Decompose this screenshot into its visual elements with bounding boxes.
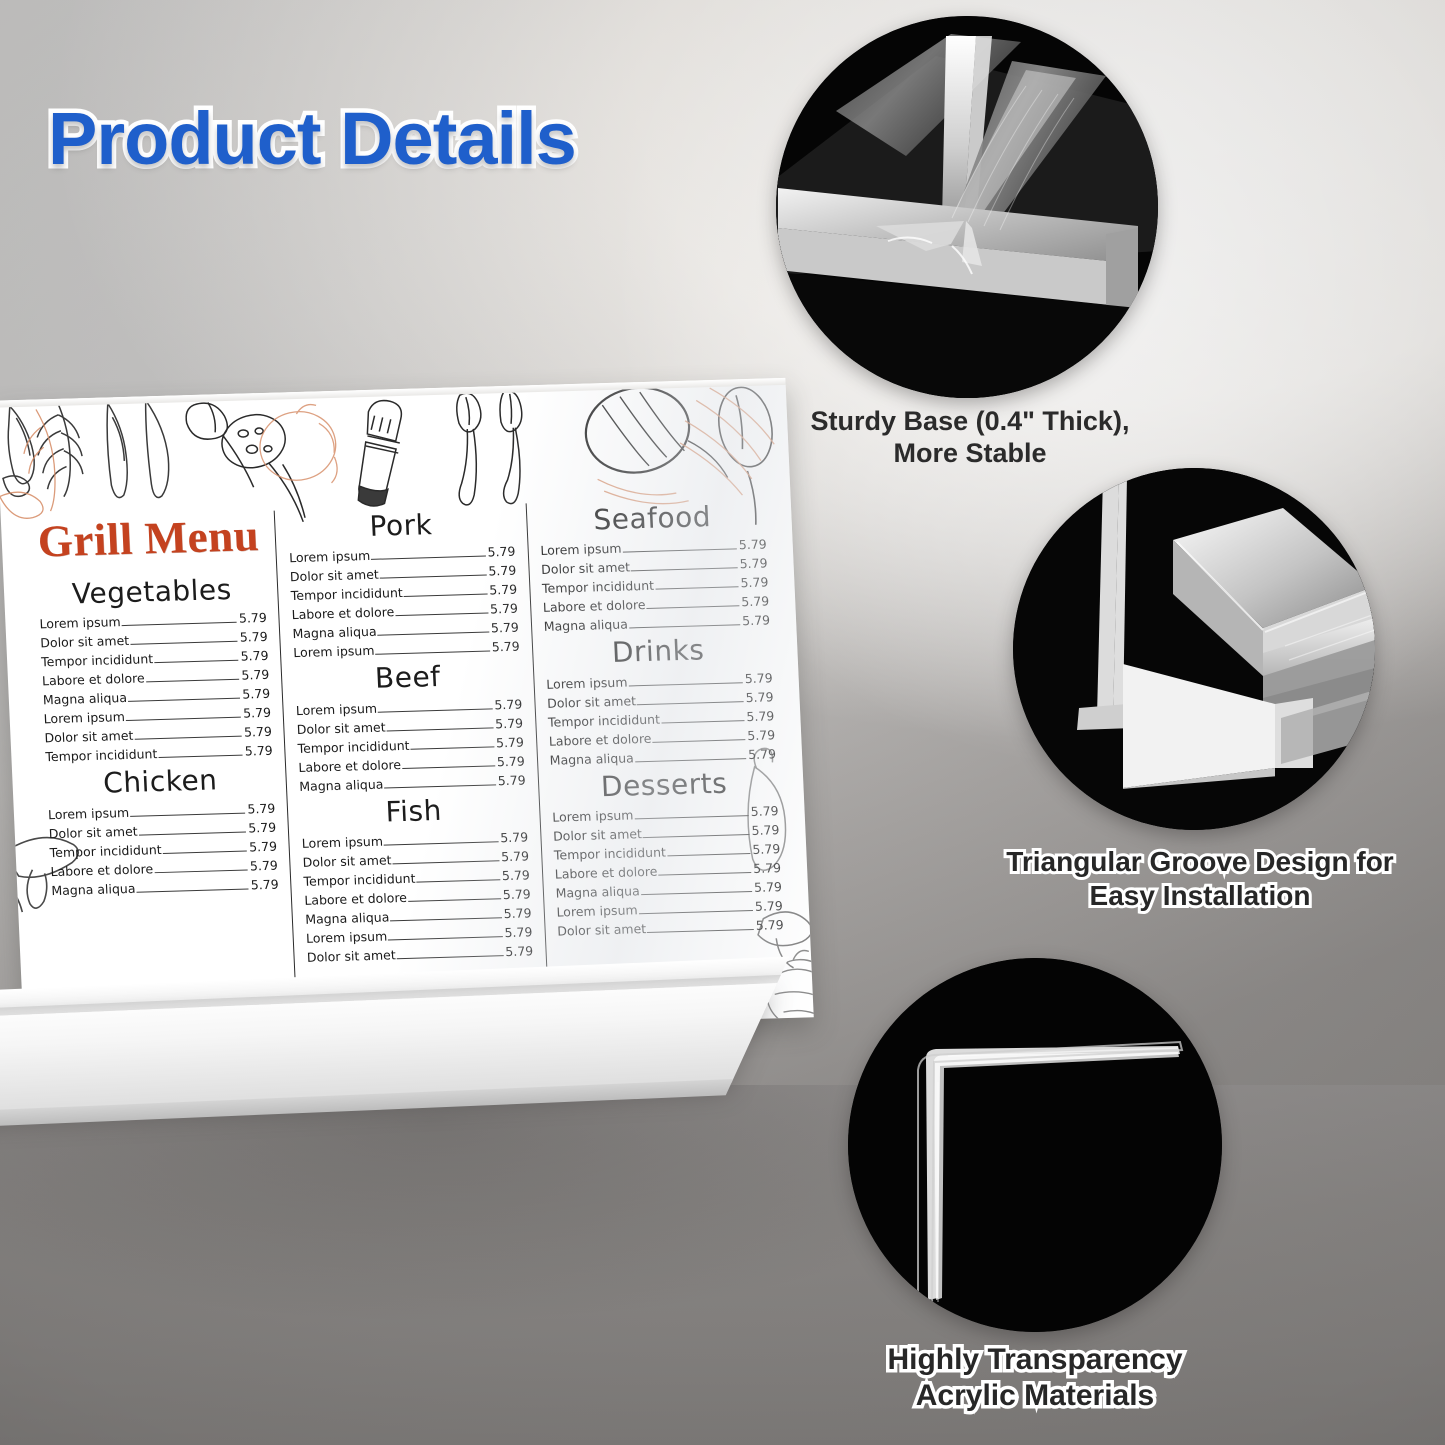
leader-dots <box>397 948 504 959</box>
leader-dots <box>637 694 744 705</box>
item-price: 5.79 <box>747 725 776 745</box>
leader-dots <box>643 827 750 838</box>
item-price: 5.79 <box>488 561 517 581</box>
item-price: 5.79 <box>243 703 272 723</box>
menu-section-drinks: Drinks Lorem ipsum5.79 Dolor sit amet5.7… <box>544 634 776 770</box>
caption-line-1: Highly Transparency <box>810 1342 1260 1378</box>
item-price: 5.79 <box>746 706 775 726</box>
item-name: Dolor sit amet <box>40 631 130 653</box>
item-price: 5.79 <box>247 798 276 818</box>
section-items: Lorem ipsum5.79 Dolor sit amet5.79 Tempo… <box>301 828 533 967</box>
menu-section-desserts: Desserts Lorem ipsum5.79 Dolor sit amet5… <box>550 767 784 941</box>
item-name: Lorem ipsum <box>552 806 634 827</box>
section-title: Beef <box>294 660 522 696</box>
leader-dots <box>158 748 243 758</box>
item-name: Magna aliqua <box>292 622 377 643</box>
leader-dots <box>395 606 488 617</box>
leader-dots <box>380 568 487 579</box>
item-name: Labore et dolore <box>548 729 651 751</box>
item-name: Lorem ipsum <box>306 927 388 948</box>
item-price: 5.79 <box>741 592 770 612</box>
item-name: Dolor sit amet <box>541 558 631 580</box>
item-name: Dolor sit amet <box>547 691 637 713</box>
item-price: 5.79 <box>495 713 524 733</box>
leader-dots <box>629 618 741 629</box>
leader-dots <box>390 910 502 921</box>
leader-dots <box>404 587 488 597</box>
item-name: Magna aliqua <box>555 881 640 902</box>
item-price: 5.79 <box>755 915 784 935</box>
section-items: Lorem ipsum5.79 Dolor sit amet5.79 Tempo… <box>546 668 776 769</box>
item-price: 5.79 <box>740 573 769 593</box>
item-name: Dolor sit amet <box>302 851 392 873</box>
leader-dots <box>377 625 489 636</box>
item-price: 5.79 <box>487 542 516 562</box>
page-title: Product Details <box>48 96 576 181</box>
item-price: 5.79 <box>497 770 526 790</box>
item-name: Magna aliqua <box>299 774 384 795</box>
section-items: Lorem ipsum5.79 Dolor sit amet5.79 Tempo… <box>552 801 784 940</box>
leader-dots <box>655 580 739 590</box>
leader-dots <box>145 672 239 683</box>
item-name: Dolor sit amet <box>48 821 138 843</box>
section-items: Lorem ipsum5.79 Dolor sit amet5.79 Tempo… <box>296 694 526 795</box>
leader-dots <box>378 701 493 712</box>
menu-section-beef: Beef Lorem ipsum5.79 Dolor sit amet5.79 … <box>294 660 526 796</box>
menu-section-seafood: Seafood Lorem ipsum5.79 Dolor sit amet5.… <box>538 501 770 637</box>
item-price: 5.79 <box>241 665 270 685</box>
item-name: Labore et dolore <box>50 859 153 881</box>
menu-column-3: Seafood Lorem ipsum5.79 Dolor sit amet5.… <box>525 496 799 1019</box>
item-name: Labore et dolore <box>42 669 145 691</box>
leader-dots <box>667 846 751 856</box>
menu-section-vegetables: Vegetables Lorem ipsum5.79 Dolor sit ame… <box>38 574 274 767</box>
item-price: 5.79 <box>491 637 520 657</box>
caption-triangular-groove: Triangular Groove Design for Easy Instal… <box>960 845 1440 912</box>
item-name: Magna aliqua <box>305 908 390 929</box>
leader-dots <box>138 824 246 835</box>
menu-section-fish: Fish Lorem ipsum5.79 Dolor sit amet5.79 … <box>300 793 534 967</box>
item-name: Magna aliqua <box>42 688 127 709</box>
leader-dots <box>375 644 490 655</box>
item-name: Lorem ipsum <box>556 900 638 921</box>
item-price: 5.79 <box>491 618 520 638</box>
section-title: Seafood <box>538 501 766 537</box>
item-price: 5.79 <box>249 836 278 856</box>
item-price: 5.79 <box>490 599 519 619</box>
item-name: Lorem ipsum <box>293 641 375 662</box>
item-name: Lorem ipsum <box>301 832 383 853</box>
item-price: 5.79 <box>755 896 784 916</box>
menu-content: Grill Menu Vegetables Lorem ipsum5.79 Do… <box>23 496 800 1033</box>
item-price: 5.79 <box>753 858 782 878</box>
item-price: 5.79 <box>748 744 777 764</box>
leader-dots <box>128 691 241 702</box>
leader-dots <box>136 881 249 892</box>
leader-dots <box>134 729 242 740</box>
leader-dots <box>121 615 237 626</box>
item-price: 5.79 <box>239 627 268 647</box>
item-name: Dolor sit amet <box>290 565 380 587</box>
item-price: 5.79 <box>496 732 525 752</box>
item-price: 5.79 <box>751 820 780 840</box>
item-name: Magna aliqua <box>543 615 628 636</box>
item-price: 5.79 <box>505 941 534 961</box>
item-name: Labore et dolore <box>543 595 646 617</box>
leader-dots <box>652 732 745 743</box>
leader-dots <box>631 561 738 572</box>
menu-column-1: Grill Menu Vegetables Lorem ipsum5.79 Do… <box>23 511 297 1034</box>
item-price: 5.79 <box>503 904 532 924</box>
item-name: Lorem ipsum <box>540 539 622 560</box>
leader-dots <box>646 599 739 610</box>
leader-dots <box>392 853 499 864</box>
caption-line-1: Sturdy Base (0.4" Thick), <box>730 405 1210 437</box>
callout-image-triangular-groove <box>1013 468 1375 830</box>
item-name: Labore et dolore <box>304 888 407 910</box>
item-name: Dolor sit amet <box>296 717 386 739</box>
acrylic-base-stand <box>0 956 789 1143</box>
callout-image-transparency <box>848 958 1222 1332</box>
section-title: Vegetables <box>38 574 267 610</box>
menu-brand-title: Grill Menu <box>37 513 264 564</box>
section-items: Lorem ipsum5.79 Dolor sit amet5.79 Tempo… <box>39 608 273 766</box>
item-name: Dolor sit amet <box>553 824 643 846</box>
leader-dots <box>130 634 238 645</box>
caption-line-2: More Stable <box>730 437 1210 469</box>
item-price: 5.79 <box>244 741 273 761</box>
section-title: Fish <box>300 793 528 829</box>
item-price: 5.79 <box>239 608 268 628</box>
section-items: Lorem ipsum5.79 Dolor sit amet5.79 Tempo… <box>289 542 520 662</box>
caption-line-1: Triangular Groove Design for <box>960 845 1440 879</box>
caption-line-2: Easy Installation <box>960 879 1440 913</box>
item-price: 5.79 <box>742 611 771 631</box>
item-name: Magna aliqua <box>549 748 634 769</box>
section-title: Drinks <box>544 634 772 670</box>
section-items: Lorem ipsum5.79 Dolor sit amet5.79 Tempo… <box>48 798 279 899</box>
leader-dots <box>622 542 737 553</box>
item-name: Tempor incididunt <box>45 744 158 766</box>
item-price: 5.79 <box>502 885 531 905</box>
menu-section-chicken: Chicken Lorem ipsum5.79 Dolor sit amet5.… <box>46 764 279 900</box>
menu-column-2: Pork Lorem ipsum5.79 Dolor sit amet5.79 … <box>274 503 548 1026</box>
item-price: 5.79 <box>745 687 774 707</box>
item-price: 5.79 <box>489 580 518 600</box>
leader-dots <box>384 777 496 788</box>
leader-dots <box>416 872 500 882</box>
leader-dots <box>126 710 242 721</box>
leader-dots <box>386 720 493 731</box>
menu-panel: Grill Menu Vegetables Lorem ipsum5.79 Do… <box>0 378 814 1040</box>
item-price: 5.79 <box>240 646 269 666</box>
leader-dots <box>130 805 246 816</box>
menu-section-pork: Pork Lorem ipsum5.79 Dolor sit amet5.79 … <box>287 508 520 663</box>
leader-dots <box>154 653 239 663</box>
item-name: Labore et dolore <box>291 603 394 625</box>
leader-dots <box>634 808 749 819</box>
item-price: 5.79 <box>244 722 273 742</box>
leader-dots <box>371 549 486 560</box>
item-price: 5.79 <box>744 668 773 688</box>
section-items: Lorem ipsum5.79 Dolor sit amet5.79 Tempo… <box>540 535 770 636</box>
leader-dots <box>384 834 499 845</box>
item-name: Lorem ipsum <box>39 612 121 633</box>
item-price: 5.79 <box>752 839 781 859</box>
callout-image-sturdy-base <box>776 16 1158 398</box>
item-name: Labore et dolore <box>554 862 657 884</box>
item-price: 5.79 <box>739 554 768 574</box>
leader-dots <box>638 903 753 914</box>
leader-dots <box>647 922 754 933</box>
item-name: Labore et dolore <box>298 755 401 777</box>
item-price: 5.79 <box>502 866 531 886</box>
section-title: Pork <box>287 508 515 544</box>
acrylic-sign-holder: Grill Menu Vegetables Lorem ipsum5.79 Do… <box>0 372 850 1182</box>
item-name: Dolor sit amet <box>44 726 134 748</box>
item-name: Dolor sit amet <box>307 945 397 967</box>
leader-dots <box>408 891 501 902</box>
caption-line-2: Acrylic Materials <box>810 1378 1260 1414</box>
item-name: Lorem ipsum <box>48 803 130 824</box>
item-price: 5.79 <box>250 855 279 875</box>
leader-dots <box>661 713 745 723</box>
item-name: Dolor sit amet <box>557 919 647 941</box>
caption-transparency: Highly Transparency Acrylic Materials <box>810 1342 1260 1414</box>
item-price: 5.79 <box>750 801 779 821</box>
leader-dots <box>388 929 503 940</box>
leader-dots <box>402 758 495 769</box>
leader-dots <box>162 843 247 853</box>
leader-dots <box>628 675 743 686</box>
section-title: Chicken <box>46 764 275 800</box>
item-price: 5.79 <box>250 874 279 894</box>
item-price: 5.79 <box>242 684 271 704</box>
item-name: Lorem ipsum <box>546 672 628 693</box>
item-name: Lorem ipsum <box>296 699 378 720</box>
leader-dots <box>635 751 747 762</box>
item-price: 5.79 <box>494 694 523 714</box>
leader-dots <box>154 862 248 873</box>
leader-dots <box>641 884 753 895</box>
item-price: 5.79 <box>738 535 767 555</box>
item-price: 5.79 <box>504 923 533 943</box>
item-price: 5.79 <box>496 751 525 771</box>
item-price: 5.79 <box>754 877 783 897</box>
item-price: 5.79 <box>248 817 277 837</box>
leader-dots <box>410 739 494 749</box>
item-name: Magna aliqua <box>51 879 136 900</box>
leader-dots <box>658 865 751 876</box>
item-name: Lorem ipsum <box>289 546 371 567</box>
item-price: 5.79 <box>501 847 530 867</box>
section-title: Desserts <box>550 767 778 803</box>
caption-sturdy-base: Sturdy Base (0.4" Thick), More Stable <box>730 405 1210 470</box>
item-name: Lorem ipsum <box>43 707 125 728</box>
item-price: 5.79 <box>500 828 529 848</box>
